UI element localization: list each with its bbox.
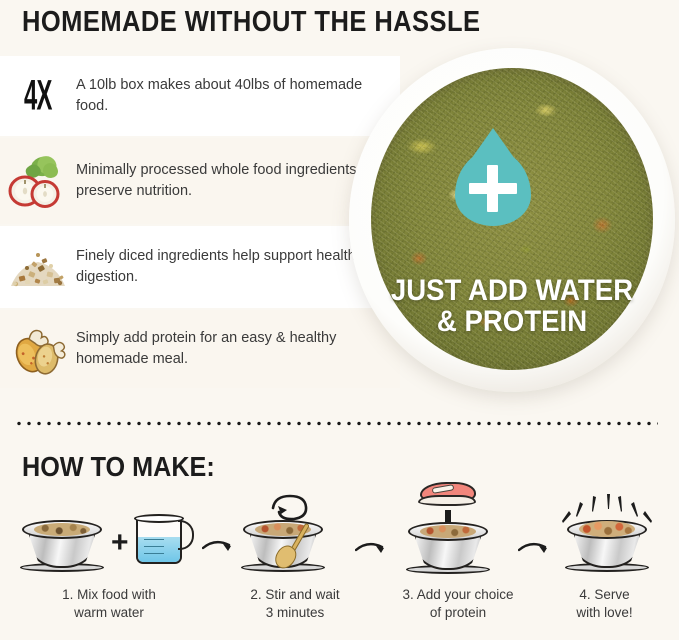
food-bowl-illustration [16,516,108,576]
bowl-plus-measuring-cup-icon: + [14,492,204,580]
dotted-divider [14,421,658,426]
howto-title: HOW TO MAKE: [22,451,215,483]
hero-headline: JUST ADD WATER & PROTEIN [349,276,675,337]
4x-badge-label: 4X [24,72,52,121]
step-2: 2. Stir and wait 3 minutes [215,492,375,622]
diced-grains-icon [0,226,76,308]
step-caption: 4. Serve with love! [537,586,672,622]
measuring-cup-illustration [132,512,194,568]
step-1: + 1. Mi [14,492,204,622]
bowl-with-spoon-icon [215,492,375,580]
step-caption: 2. Stir and wait 3 minutes [215,586,375,622]
step-3: 3. Add your choice of protein [378,492,538,622]
hero-line-2: & PROTEIN [362,307,662,338]
steak-into-bowl-icon [378,492,538,580]
feature-row: Simply add protein for an easy & healthy… [0,310,400,388]
food-bowl-illustration [561,496,653,576]
hero-line-1: JUST ADD WATER [362,276,662,307]
step-caption: 1. Mix food with warm water [14,586,204,622]
food-bowl-illustration [237,514,329,576]
page-title: HOMEMADE WITHOUT THE HASSLE [22,6,480,39]
infographic-page: HOMEMADE WITHOUT THE HASSLE 4X A 10lb bo… [0,0,679,640]
plus-vertical-bar [487,165,498,212]
step-caption: 3. Add your choice of protein [378,586,538,622]
step-4: 4. Serve with love! [537,492,672,622]
stir-arrow-icon [265,492,313,526]
feature-row: Minimally processed whole food ingredien… [0,138,400,224]
feature-list: 4X A 10lb box makes about 40lbs of homem… [0,56,400,386]
4x-badge-icon: 4X [0,56,76,136]
steak-icon [416,478,480,512]
hero-bowl-image: JUST ADD WATER & PROTEIN [349,48,675,392]
feature-row: Finely diced ingredients help support he… [0,226,400,308]
sparkling-full-bowl-icon [537,492,672,580]
plus-symbol: + [111,526,129,560]
chicken-drumsticks-icon [0,310,76,388]
food-bowl-illustration [402,492,494,578]
apples-and-greens-icon [0,138,76,224]
howto-steps: + 1. Mi [0,492,679,640]
feature-row: 4X A 10lb box makes about 40lbs of homem… [0,56,400,136]
